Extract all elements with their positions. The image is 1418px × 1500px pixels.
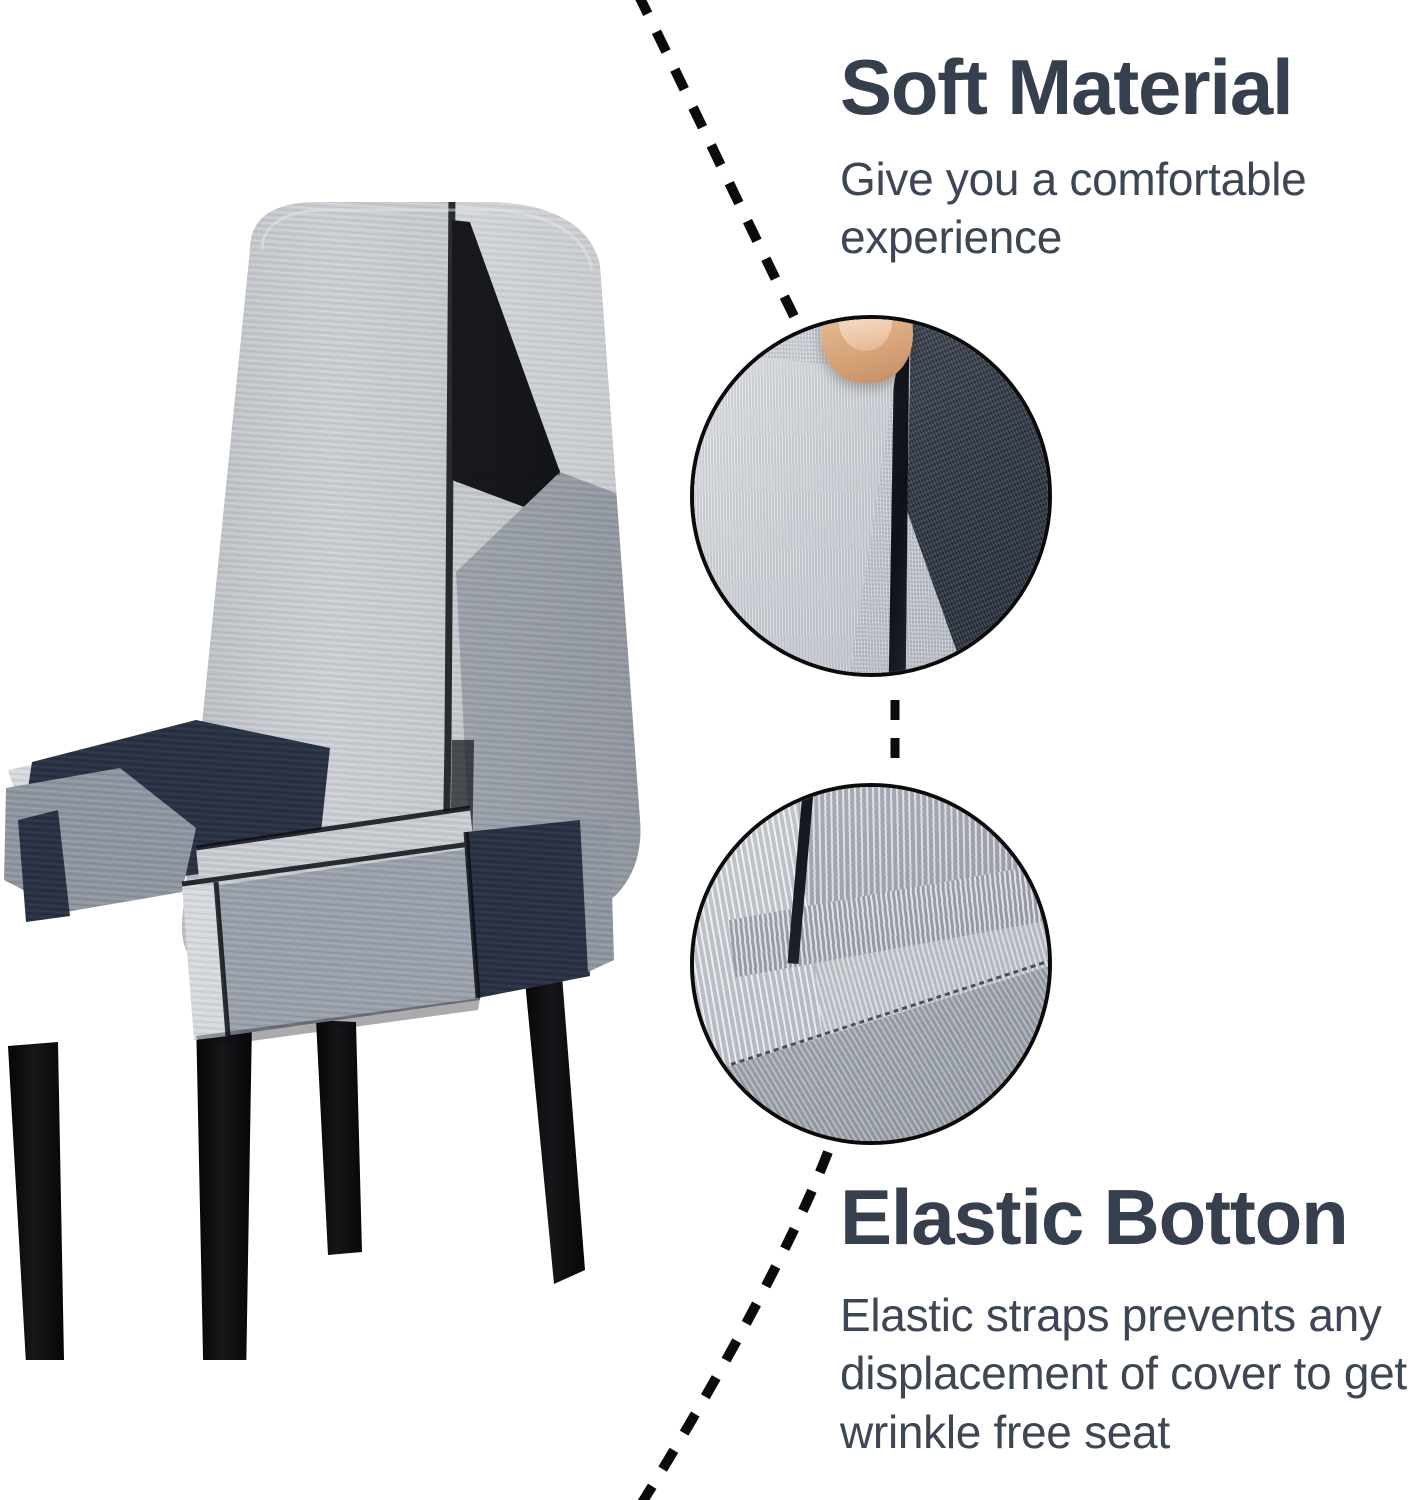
elastic-bottom-text-block: Elastic Botton Elastic straps prevents a… (840, 1178, 1410, 1461)
chair-leg-rear-right (522, 950, 585, 1284)
chair-leg-front-center (196, 1016, 252, 1360)
infographic-page: Soft Material Give you a comfortable exp… (0, 0, 1418, 1500)
elastic-bottom-description: Elastic straps prevents any displacement… (840, 1286, 1410, 1461)
soft-material-text-block: Soft Material Give you a comfortable exp… (840, 48, 1400, 267)
soft-material-description: Give you a comfortable experience (840, 150, 1400, 267)
product-chair-image (0, 180, 680, 1360)
elastic-bottom-title: Elastic Botton (840, 1178, 1410, 1256)
soft-material-photo-inner (694, 319, 1048, 673)
skirt-navy-block (466, 820, 590, 998)
chair-leg-middle (316, 1020, 362, 1255)
elastic-bottom-detail-photo (690, 783, 1052, 1145)
elastic-bottom-photo-inner (694, 787, 1048, 1141)
chair-leg-front-left (8, 1042, 64, 1360)
soft-material-title: Soft Material (840, 48, 1400, 126)
soft-material-detail-photo (690, 315, 1052, 677)
chair-svg (0, 180, 680, 1360)
